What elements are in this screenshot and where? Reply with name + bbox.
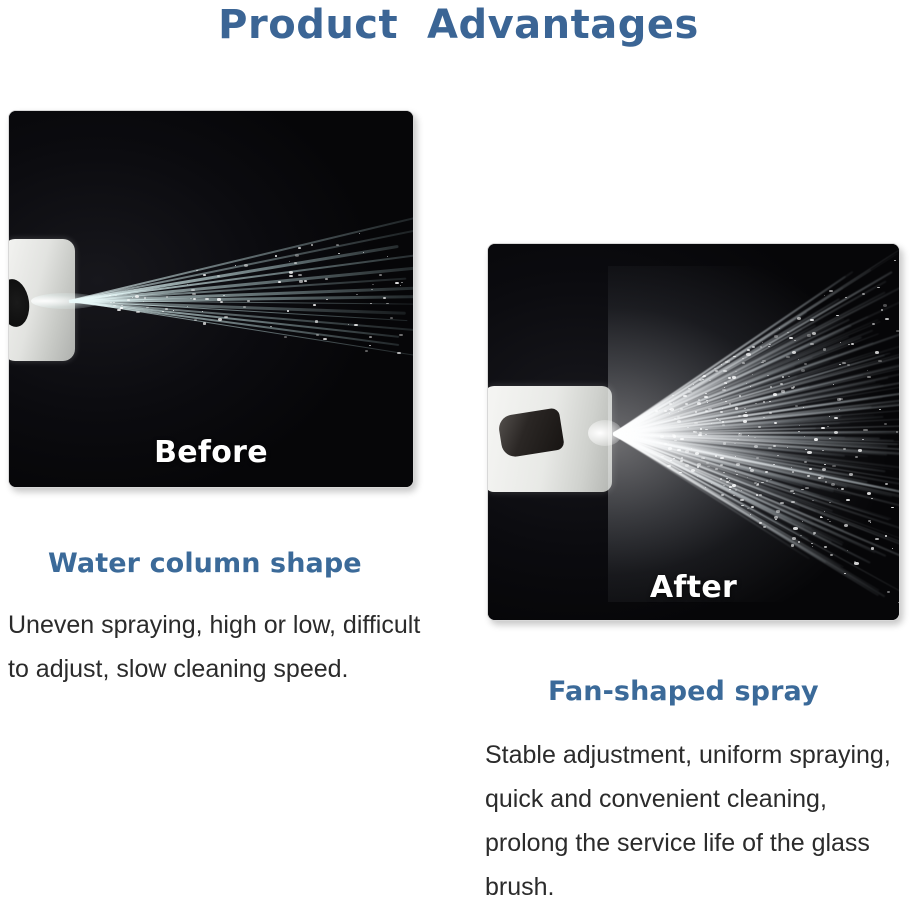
spray-droplet <box>788 376 789 377</box>
spray-droplet <box>884 423 887 425</box>
spray-droplet <box>846 499 850 502</box>
water-droplet <box>173 310 175 311</box>
spray-droplet <box>697 402 701 405</box>
spray-droplet <box>871 498 872 499</box>
water-droplet <box>311 244 313 246</box>
spray-droplet <box>812 546 813 547</box>
spray-droplet <box>721 494 725 496</box>
water-droplet <box>395 282 399 285</box>
spray-droplet <box>896 330 899 332</box>
water-droplet <box>218 318 222 321</box>
spray-droplet <box>794 340 795 341</box>
spray-droplet <box>736 474 738 475</box>
left-column-heading: Water column shape <box>48 548 362 579</box>
spray-droplet <box>746 383 747 384</box>
spray-droplet <box>841 488 844 490</box>
spray-droplet <box>735 489 737 490</box>
spray-droplet <box>721 364 723 365</box>
spray-droplet <box>776 510 779 512</box>
spray-droplet <box>729 403 731 404</box>
water-droplet <box>372 284 374 285</box>
spray-droplet <box>832 465 836 468</box>
spray-droplet <box>688 391 691 393</box>
spray-droplet <box>737 439 738 440</box>
spray-droplet <box>870 522 871 523</box>
spray-droplet <box>674 440 677 442</box>
spray-droplet <box>855 456 859 458</box>
spray-droplet <box>768 447 771 449</box>
spray-droplet <box>867 376 871 379</box>
spray-droplet <box>704 396 707 398</box>
before-photo-image <box>9 111 413 487</box>
water-droplet <box>379 274 382 276</box>
water-droplet <box>121 305 123 306</box>
spray-droplet <box>734 443 735 444</box>
spray-droplet <box>894 260 895 261</box>
spray-droplet <box>763 401 765 403</box>
water-droplet <box>144 297 146 299</box>
water-droplet <box>115 295 116 296</box>
spray-droplet <box>804 461 807 463</box>
water-droplet <box>289 271 293 274</box>
water-droplet <box>278 281 282 283</box>
spray-droplet <box>802 521 803 522</box>
spray-droplet <box>799 425 800 426</box>
spray-droplet <box>845 297 846 298</box>
spray-droplet <box>798 541 801 543</box>
spray-droplet <box>858 449 862 451</box>
spray-droplet <box>831 483 835 486</box>
spray-droplet <box>738 433 742 435</box>
spray-droplet <box>877 287 880 289</box>
spray-droplet <box>742 358 744 359</box>
spray-droplet <box>743 420 747 422</box>
spray-droplet <box>683 395 687 397</box>
spray-droplet <box>829 290 833 292</box>
spray-droplet <box>752 346 755 348</box>
spray-droplet <box>691 469 695 472</box>
water-droplet <box>192 293 196 295</box>
spray-droplet <box>827 519 829 520</box>
water-droplet <box>315 320 318 322</box>
spray-droplet <box>792 537 796 540</box>
spray-droplet <box>775 519 777 520</box>
spray-droplet <box>694 422 697 424</box>
water-droplet <box>369 345 371 346</box>
spray-droplet <box>756 494 759 496</box>
spray-droplet <box>814 438 818 441</box>
before-photo-card: Before <box>8 110 414 488</box>
spray-droplet <box>800 535 801 536</box>
spray-droplet <box>837 488 838 489</box>
spray-droplet <box>723 442 726 444</box>
water-droplet <box>162 311 164 312</box>
spray-droplet <box>822 468 826 471</box>
spray-droplet <box>760 346 762 347</box>
spray-droplet <box>804 436 805 437</box>
spray-droplet <box>715 468 717 470</box>
spray-droplet <box>752 374 753 375</box>
spray-droplet <box>695 452 699 455</box>
spray-droplet <box>793 527 797 530</box>
spray-droplet <box>722 389 726 392</box>
spray-droplet <box>736 463 740 465</box>
spray-droplet <box>782 376 784 377</box>
spray-droplet <box>867 370 868 371</box>
spray-droplet <box>830 554 833 556</box>
spray-droplet <box>851 343 854 345</box>
spray-droplet <box>685 403 688 405</box>
spray-droplet <box>674 418 676 419</box>
spray-droplet <box>879 409 881 410</box>
spray-droplet <box>770 479 772 480</box>
spray-droplet <box>875 351 879 354</box>
spray-droplet <box>756 484 759 486</box>
spray-droplet <box>896 431 898 432</box>
water-droplet <box>136 311 139 313</box>
spray-droplet <box>862 293 865 295</box>
spray-droplet <box>820 476 824 479</box>
before-caption: Before <box>9 435 413 470</box>
spray-droplet <box>724 387 725 388</box>
spray-droplet <box>673 402 674 403</box>
water-droplet <box>117 309 120 311</box>
water-droplet <box>338 253 339 254</box>
spray-droplet <box>872 323 875 325</box>
water-droplet <box>220 301 223 303</box>
water-droplet <box>354 324 358 327</box>
spray-droplet <box>812 500 814 501</box>
water-droplet <box>110 302 111 303</box>
spray-droplet <box>847 550 848 551</box>
water-droplet <box>370 303 372 304</box>
spray-droplet <box>837 398 840 400</box>
spray-droplet <box>729 486 731 487</box>
spray-droplet <box>801 369 805 372</box>
water-droplet <box>166 296 168 297</box>
water-droplet <box>203 322 207 324</box>
water-droplet <box>326 299 328 300</box>
spray-droplet <box>829 502 831 503</box>
spray-droplet <box>789 337 793 340</box>
spray-droplet <box>705 393 707 394</box>
spray-droplet <box>739 395 741 397</box>
spray-droplet <box>820 517 822 518</box>
spray-droplet <box>780 383 783 385</box>
spray-droplet <box>793 386 795 387</box>
water-droplet <box>397 352 401 354</box>
spray-droplet <box>885 483 888 485</box>
spray-droplet <box>774 335 778 337</box>
water-droplet <box>193 298 196 300</box>
water-droplet <box>356 294 358 295</box>
water-droplet <box>299 280 303 282</box>
spray-droplet <box>672 434 675 436</box>
spray-droplet <box>849 473 853 475</box>
spray-droplet <box>733 495 735 497</box>
spray-droplet <box>726 481 729 483</box>
spray-droplet <box>792 471 795 473</box>
water-droplet <box>369 336 373 338</box>
spray-droplet <box>807 451 811 454</box>
water-droplet <box>295 254 299 256</box>
spray-droplet <box>781 390 785 392</box>
spray-droplet <box>749 467 752 469</box>
water-droplet <box>298 274 302 277</box>
spray-droplet <box>891 507 893 509</box>
spray-droplet <box>741 490 742 491</box>
water-droplet <box>127 299 130 301</box>
water-droplet <box>325 278 328 280</box>
spray-droplet <box>735 456 736 457</box>
spray-droplet <box>795 405 798 407</box>
spray-droplet <box>740 499 744 501</box>
spray-droplet <box>786 356 790 358</box>
spray-droplet <box>823 348 826 350</box>
spray-droplet <box>821 427 825 430</box>
spray-droplet <box>688 388 690 389</box>
spray-droplet <box>673 458 675 459</box>
fan-shaped-spray <box>488 244 899 620</box>
spray-droplet <box>791 544 795 546</box>
spray-droplet <box>750 469 754 472</box>
spray-droplet <box>844 524 848 527</box>
water-droplet <box>401 282 403 283</box>
spray-droplet <box>885 318 889 321</box>
spray-droplet <box>798 431 799 432</box>
water-droplet <box>244 264 248 267</box>
spray-droplet <box>773 393 777 396</box>
spray-droplet <box>735 407 738 409</box>
water-droplet <box>323 338 327 340</box>
spray-droplet <box>678 411 679 412</box>
spray-droplet <box>825 481 827 482</box>
spray-droplet <box>770 386 772 388</box>
spray-droplet <box>669 413 670 414</box>
spray-droplet <box>706 400 708 401</box>
spray-droplet <box>813 532 816 534</box>
spray-droplet <box>720 464 723 466</box>
spray-droplet <box>812 332 816 335</box>
spray-droplet <box>720 411 723 413</box>
spray-droplet <box>834 431 838 434</box>
water-droplet <box>275 255 277 256</box>
spray-droplet <box>805 449 807 450</box>
water-droplet <box>289 275 293 278</box>
spray-droplet <box>726 478 728 479</box>
after-photo-image <box>488 244 899 620</box>
spray-droplet <box>722 421 724 422</box>
spray-droplet <box>809 468 812 470</box>
water-droplet <box>399 334 402 336</box>
spray-droplet <box>807 334 811 336</box>
water-droplet <box>365 350 368 352</box>
spray-droplet <box>790 490 794 492</box>
spray-droplet <box>750 514 751 515</box>
right-column-body: Stable adjustment, uniform spraying, qui… <box>485 733 917 909</box>
spray-droplet <box>670 408 674 410</box>
spray-droplet <box>697 463 701 466</box>
after-photo-card: After <box>487 243 900 621</box>
spray-droplet <box>892 548 893 549</box>
spray-droplet <box>885 535 887 536</box>
spray-droplet <box>677 449 680 451</box>
spray-droplet <box>824 546 826 547</box>
water-droplet <box>298 247 301 249</box>
spray-droplet <box>842 362 845 364</box>
spray-droplet <box>670 460 672 461</box>
spray-origin-glow <box>588 420 622 446</box>
right-column-heading: Fan-shaped spray <box>548 676 819 707</box>
after-caption: After <box>488 570 899 605</box>
spray-droplet <box>779 328 781 329</box>
spray-droplet <box>867 492 871 495</box>
water-droplet <box>359 233 361 234</box>
spray-droplet <box>719 420 720 421</box>
water-droplet <box>313 304 317 306</box>
spray-droplet <box>725 401 727 402</box>
water-droplet <box>383 297 386 299</box>
water-droplet <box>196 270 198 271</box>
spray-droplet <box>705 410 708 412</box>
spray-droplet <box>703 375 706 377</box>
spray-droplet <box>793 493 795 494</box>
spray-droplet <box>827 426 828 427</box>
water-droplet <box>304 280 307 282</box>
spray-droplet <box>768 346 770 347</box>
spray-droplet <box>824 464 825 465</box>
spray-droplet <box>824 295 825 296</box>
spray-droplet <box>875 538 878 540</box>
spray-droplet <box>759 494 761 496</box>
water-column-spray <box>9 111 413 487</box>
spray-droplet <box>685 450 689 453</box>
spray-droplet <box>804 363 807 365</box>
spray-droplet <box>722 424 725 426</box>
spray-droplet <box>839 364 841 365</box>
spray-droplet <box>754 445 758 448</box>
spray-droplet <box>743 414 747 417</box>
spray-droplet <box>758 426 761 428</box>
spray-droplet <box>711 483 712 484</box>
spray-droplet <box>715 455 717 456</box>
water-droplet <box>224 316 228 318</box>
spray-droplet <box>829 521 831 522</box>
spray-droplet <box>762 342 763 343</box>
spray-droplet <box>735 371 737 372</box>
spray-droplet <box>797 317 801 320</box>
spray-droplet <box>848 344 849 345</box>
page-title: Product Advantages <box>0 2 917 48</box>
spray-droplet <box>862 439 864 440</box>
spray-droplet <box>700 428 702 429</box>
spray-droplet <box>805 487 809 489</box>
spray-droplet <box>751 506 754 508</box>
spray-droplet <box>732 376 736 378</box>
water-droplet <box>217 298 221 300</box>
water-droplet <box>205 298 209 300</box>
water-droplet <box>187 284 189 285</box>
water-droplet <box>284 336 287 338</box>
left-column-body: Uneven spraying, high or low, difficult … <box>8 603 428 691</box>
water-droplet <box>400 285 401 286</box>
